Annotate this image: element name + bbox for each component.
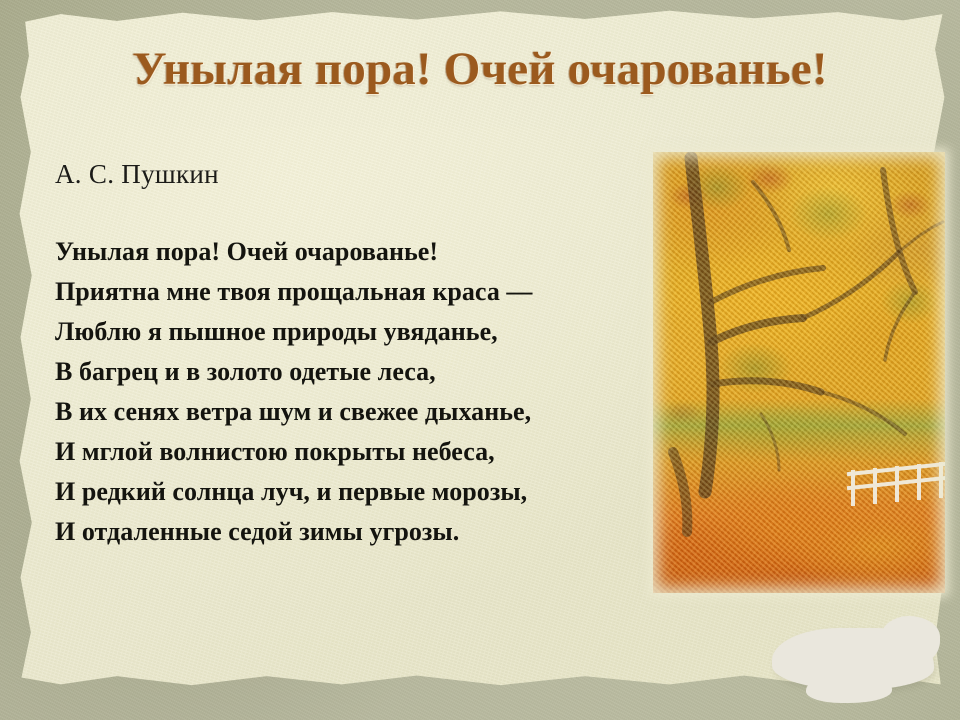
poem-line: И редкий солнца луч, и первые морозы, bbox=[55, 472, 640, 512]
poem-line: Приятна мне твоя прощальная краса — bbox=[55, 272, 640, 312]
white-smudge-mark bbox=[772, 628, 934, 690]
poem-line: Унылая пора! Очей очарованье! bbox=[55, 232, 640, 272]
slide: Унылая пора! Очей очарованье! А. С. Пушк… bbox=[0, 0, 960, 720]
poem-line: В их сенях ветра шум и свежее дыханье, bbox=[55, 392, 640, 432]
page-title: Унылая пора! Очей очарованье! bbox=[0, 42, 960, 96]
poem-line: Люблю я пышное природы увяданье, bbox=[55, 312, 640, 352]
poem-line: И мглой волнистою покрыты небеса, bbox=[55, 432, 640, 472]
poem-line: В багрец и в золото одетые леса, bbox=[55, 352, 640, 392]
autumn-photo-frame bbox=[653, 152, 945, 593]
author-name: А. С. Пушкин bbox=[55, 159, 219, 190]
autumn-photo bbox=[653, 152, 945, 593]
photo-leaf-speckle-texture bbox=[653, 152, 945, 593]
poem-body: Унылая пора! Очей очарованье! Приятна мн… bbox=[55, 232, 640, 552]
poem-line: И отдаленные седой зимы угрозы. bbox=[55, 512, 640, 552]
